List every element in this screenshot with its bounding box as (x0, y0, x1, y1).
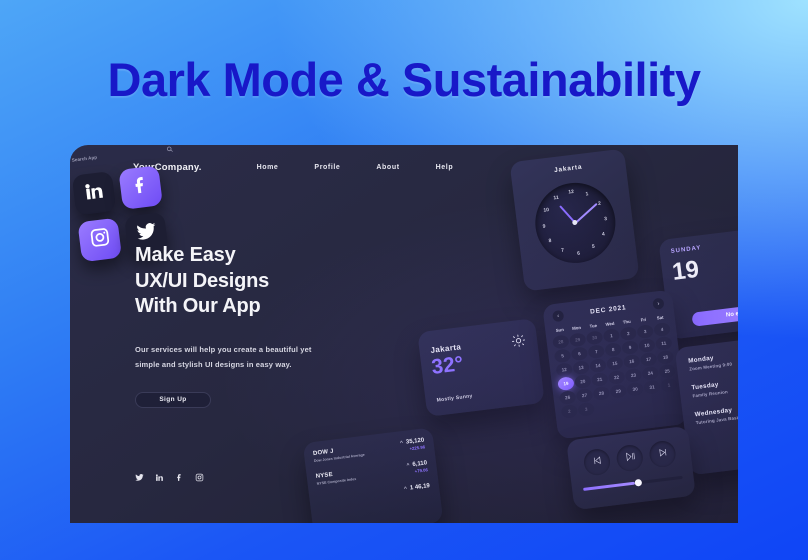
stock-change: +79.06 (407, 467, 428, 474)
app-tile-instagram[interactable] (77, 218, 122, 263)
hero-social-links (135, 473, 204, 482)
clock-dial: 121234567891011 (530, 178, 619, 267)
clock-center-pin (572, 220, 578, 226)
twitter-icon[interactable] (135, 473, 144, 482)
clock-hour-number: 1 (585, 191, 588, 197)
headline-line-2: UX/UI Designs (135, 269, 395, 295)
calendar-day-cell[interactable]: 7 (588, 344, 605, 359)
clock-hour-number: 11 (553, 195, 559, 202)
trend-up-icon: ^ (406, 462, 410, 468)
calendar-day-cell[interactable]: 4 (653, 322, 670, 337)
stock-row[interactable]: ^1 46,19 (318, 483, 430, 503)
calendar-day-cell[interactable]: 21 (591, 372, 608, 387)
clock-minute-hand (574, 203, 597, 224)
calendar-day-cell[interactable]: 30 (586, 330, 603, 345)
calendar-weekday: Fri (635, 316, 652, 323)
calendar-day-cell[interactable]: 3 (636, 324, 653, 339)
calendar-weekday: Sat (652, 314, 669, 321)
calendar-day-cell[interactable]: 17 (640, 352, 657, 367)
hero-headline: Make Easy UX/UI Designs With Our App (135, 243, 395, 320)
clock-hour-number: 4 (602, 232, 605, 238)
calendar-day-cell[interactable]: 16 (623, 354, 640, 369)
calendar-day-cell[interactable]: 15 (606, 356, 623, 371)
calendar-day-cell[interactable]: 8 (604, 342, 621, 357)
clock-hour-number: 10 (543, 207, 549, 214)
day-card-date: 19 (671, 256, 701, 287)
calendar-day-cell[interactable]: 11 (655, 336, 672, 351)
app-tile-linkedin[interactable] (72, 171, 117, 216)
hero-panel: YourCompany. Home Profile About Help Mak… (70, 145, 738, 523)
next-track-button[interactable] (648, 440, 677, 469)
sun-icon (511, 333, 525, 347)
next-track-icon (656, 444, 669, 463)
day-card-weekday: SUNDAY (670, 245, 701, 255)
calendar-day-cell[interactable]: 14 (589, 358, 606, 373)
play-pause-button[interactable] (615, 444, 644, 473)
calendar-next-month-button[interactable]: › (652, 298, 664, 310)
calendar-month-label: DEC 2021 (590, 304, 627, 315)
calendar-weekday: Sun (551, 326, 568, 333)
calendar-day-cell[interactable]: 9 (621, 340, 638, 355)
clock-hour-number: 8 (548, 238, 551, 244)
nav-link-help[interactable]: Help (436, 164, 454, 171)
linkedin-icon[interactable] (155, 473, 164, 482)
clock-city-label: Jakarta (511, 158, 626, 179)
calendar-day-cell[interactable]: 22 (608, 370, 625, 385)
calendar-day-cell[interactable]: 29 (610, 384, 627, 399)
calendar-day-cell[interactable]: 26 (559, 390, 576, 405)
clock-widget: Jakarta 121234567891011 (510, 148, 640, 291)
play-pause-icon (623, 448, 636, 467)
trend-up-icon: ^ (400, 440, 404, 446)
facebook-icon (129, 173, 153, 201)
nav-link-home[interactable]: Home (257, 164, 279, 171)
linkedin-icon (82, 179, 106, 207)
clock-hour-number: 12 (568, 188, 574, 195)
calendar-day-cell[interactable]: 28 (593, 386, 610, 401)
facebook-icon[interactable] (175, 473, 184, 482)
calendar-day-cell[interactable]: 31 (643, 380, 660, 395)
nav-link-about[interactable]: About (376, 164, 399, 171)
stock-row[interactable]: NYSE NYSE Composite Index ^6,110 +79.06 (316, 460, 429, 486)
calendar-day-cell[interactable]: 28 (552, 335, 569, 350)
calendar-day-cell[interactable]: 1 (603, 328, 620, 343)
calendar-day-cell[interactable]: 5 (554, 348, 571, 363)
hero-copy: Make Easy UX/UI Designs With Our App Our… (135, 243, 395, 408)
calendar-day-cell[interactable]: 12 (556, 362, 573, 377)
calendar-day-cell[interactable]: 18 (657, 350, 674, 365)
agenda-item[interactable]: Wednesday Tutoring Java Basic (694, 401, 738, 426)
calendar-day-cell[interactable]: 1 (660, 378, 677, 393)
page-title: Dark Mode & Sustainability (0, 52, 808, 107)
calendar-day-cell[interactable]: 23 (625, 368, 642, 383)
calendar-weekday: Thu (618, 318, 635, 325)
weather-temperature: 32° (430, 352, 464, 380)
stock-price: 1 46,19 (410, 483, 431, 491)
day-card-status-badge: No events (691, 299, 738, 326)
music-progress-slider[interactable] (583, 476, 683, 491)
sign-up-button[interactable]: Sign Up (135, 392, 211, 408)
agenda-item[interactable]: Tuesday Family Reunion (691, 374, 738, 399)
stock-row[interactable]: DOW J Dow Jones Industrial Average ^35,1… (313, 437, 426, 463)
calendar-day-cell[interactable]: 10 (638, 338, 655, 353)
calendar-weekday: Tue (585, 322, 602, 329)
calendar-day-cell[interactable]: 24 (642, 366, 659, 381)
agenda-item[interactable]: Monday Zoom Meeting 9:00 (688, 347, 738, 372)
music-controls (579, 439, 681, 477)
calendar-prev-month-button[interactable]: ‹ (552, 310, 564, 322)
headline-line-3: With Our App (135, 294, 395, 320)
nav-links: Home Profile About Help (257, 164, 454, 171)
clock-hour-number: 7 (561, 248, 564, 254)
previous-track-button[interactable] (583, 448, 612, 477)
hero-subtext: Our services will help you create a beau… (135, 342, 335, 372)
calendar-day-cell[interactable]: 29 (569, 332, 586, 347)
calendar-weekday: Mon (568, 324, 585, 331)
calendar-day-cell[interactable]: 6 (571, 346, 588, 361)
calendar-day-cell[interactable]: 27 (576, 388, 593, 403)
calendar-weekday: Wed (601, 320, 618, 327)
clock-hour-number: 9 (542, 223, 545, 229)
nav-link-profile[interactable]: Profile (314, 164, 340, 171)
instagram-icon (88, 226, 112, 254)
calendar-day-cell[interactable]: 30 (626, 382, 643, 397)
calendar-day-grid[interactable]: 2829301234567891011121314151617181920212… (552, 322, 679, 419)
weather-widget: Jakarta 32° Mostly Sunny (417, 318, 544, 417)
previous-track-icon (590, 452, 603, 471)
instagram-icon[interactable] (195, 473, 204, 482)
calendar-day-cell[interactable]: 13 (572, 360, 589, 375)
clock-hour-number: 5 (592, 244, 595, 250)
calendar-day-cell[interactable]: 20 (574, 374, 591, 389)
stocks-widget: DOW J Dow Jones Industrial Average ^35,1… (303, 427, 444, 523)
calendar-day-cell[interactable]: 2 (561, 404, 578, 419)
calendar-day-cell[interactable]: 19 (557, 376, 574, 391)
clock-hour-number: 6 (577, 250, 580, 256)
search-icon[interactable] (165, 145, 174, 158)
trend-up-icon: ^ (404, 486, 408, 492)
clock-hour-number: 2 (598, 201, 601, 207)
search-bar[interactable]: Search App (70, 145, 182, 170)
clock-hour-number: 3 (604, 216, 607, 222)
calendar-day-cell[interactable]: 25 (658, 364, 675, 379)
calendar-day-cell[interactable]: 2 (620, 326, 637, 341)
music-progress-knob[interactable] (634, 478, 642, 486)
app-tile-facebook[interactable] (118, 165, 163, 210)
calendar-widget: ‹ DEC 2021 › Sun Mon Tue Wed Thu Fri Sat… (542, 290, 687, 440)
weather-condition: Mostly Sunny (436, 393, 473, 403)
search-input[interactable]: Search App (72, 155, 98, 163)
music-player-widget (566, 426, 696, 510)
calendar-day-cell[interactable]: 3 (578, 402, 595, 417)
headline-line-1: Make Easy (135, 243, 395, 269)
music-progress-fill (583, 482, 635, 491)
